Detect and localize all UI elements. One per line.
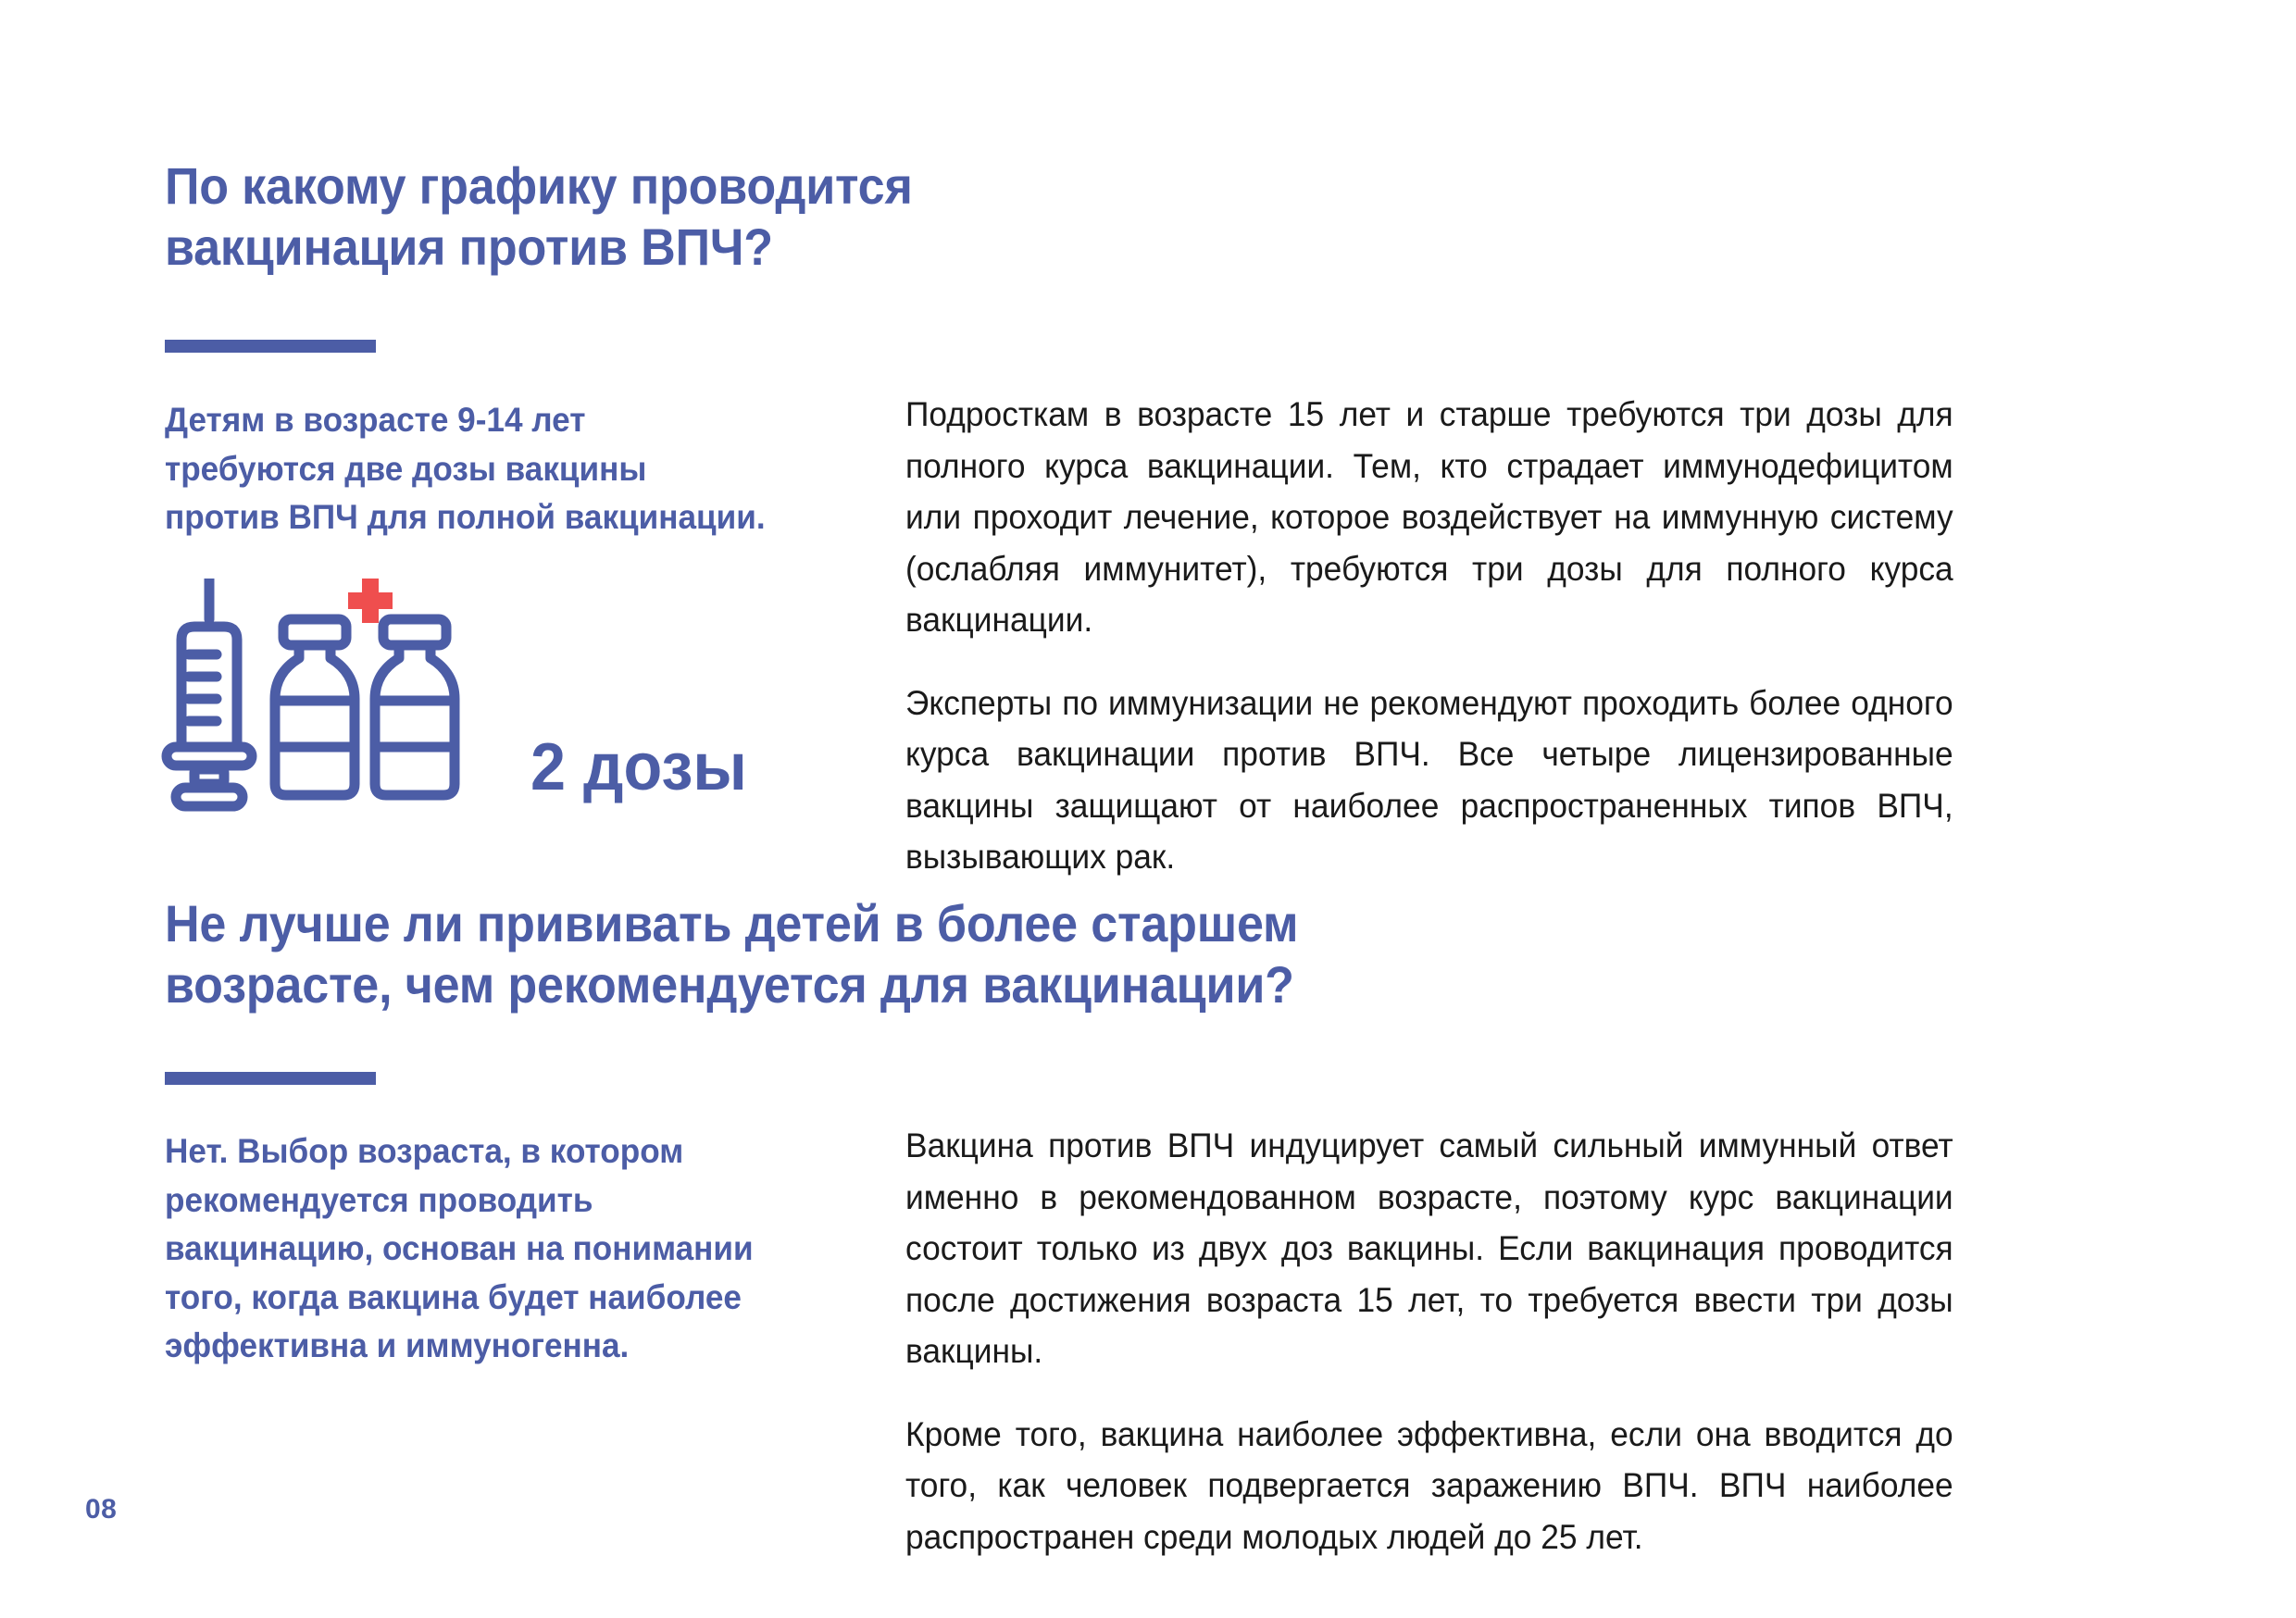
section-1-divider — [165, 340, 376, 353]
section-2-body: Вакцина против ВПЧ индуцирует самый силь… — [905, 1120, 1953, 1562]
section-2-divider — [165, 1072, 376, 1085]
dose-count-label: 2 дозы — [530, 734, 747, 801]
section-2-heading: Не лучше ли прививать детей в более стар… — [165, 893, 1628, 1014]
section-1-body: Подросткам в возрасте 15 лет и старше тр… — [905, 389, 1953, 883]
paragraph: Вакцина против ВПЧ индуцирует самый силь… — [905, 1120, 1953, 1377]
section-1-heading: По какому графику проводится вакцинация … — [165, 156, 1370, 277]
section-2-lead-text: Нет. Выбор возраста, в котором рекоменду… — [165, 1127, 860, 1371]
paragraph: Подросткам в возрасте 15 лет и старше тр… — [905, 389, 1953, 646]
paragraph: Эксперты по иммунизации не рекомендуют п… — [905, 678, 1953, 883]
page-number: 08 — [85, 1494, 117, 1525]
document-page: По какому графику проводится вакцинация … — [0, 0, 2296, 1618]
paragraph: Кроме того, вакцина наиболее эффективна,… — [905, 1409, 1953, 1563]
vaccine-vial-icon — [375, 619, 455, 795]
vaccine-illustration — [156, 579, 544, 819]
vaccine-vial-icon — [275, 619, 355, 795]
section-1-lead-text: Детям в возрасте 9-14 лет требуются две … — [165, 396, 868, 542]
